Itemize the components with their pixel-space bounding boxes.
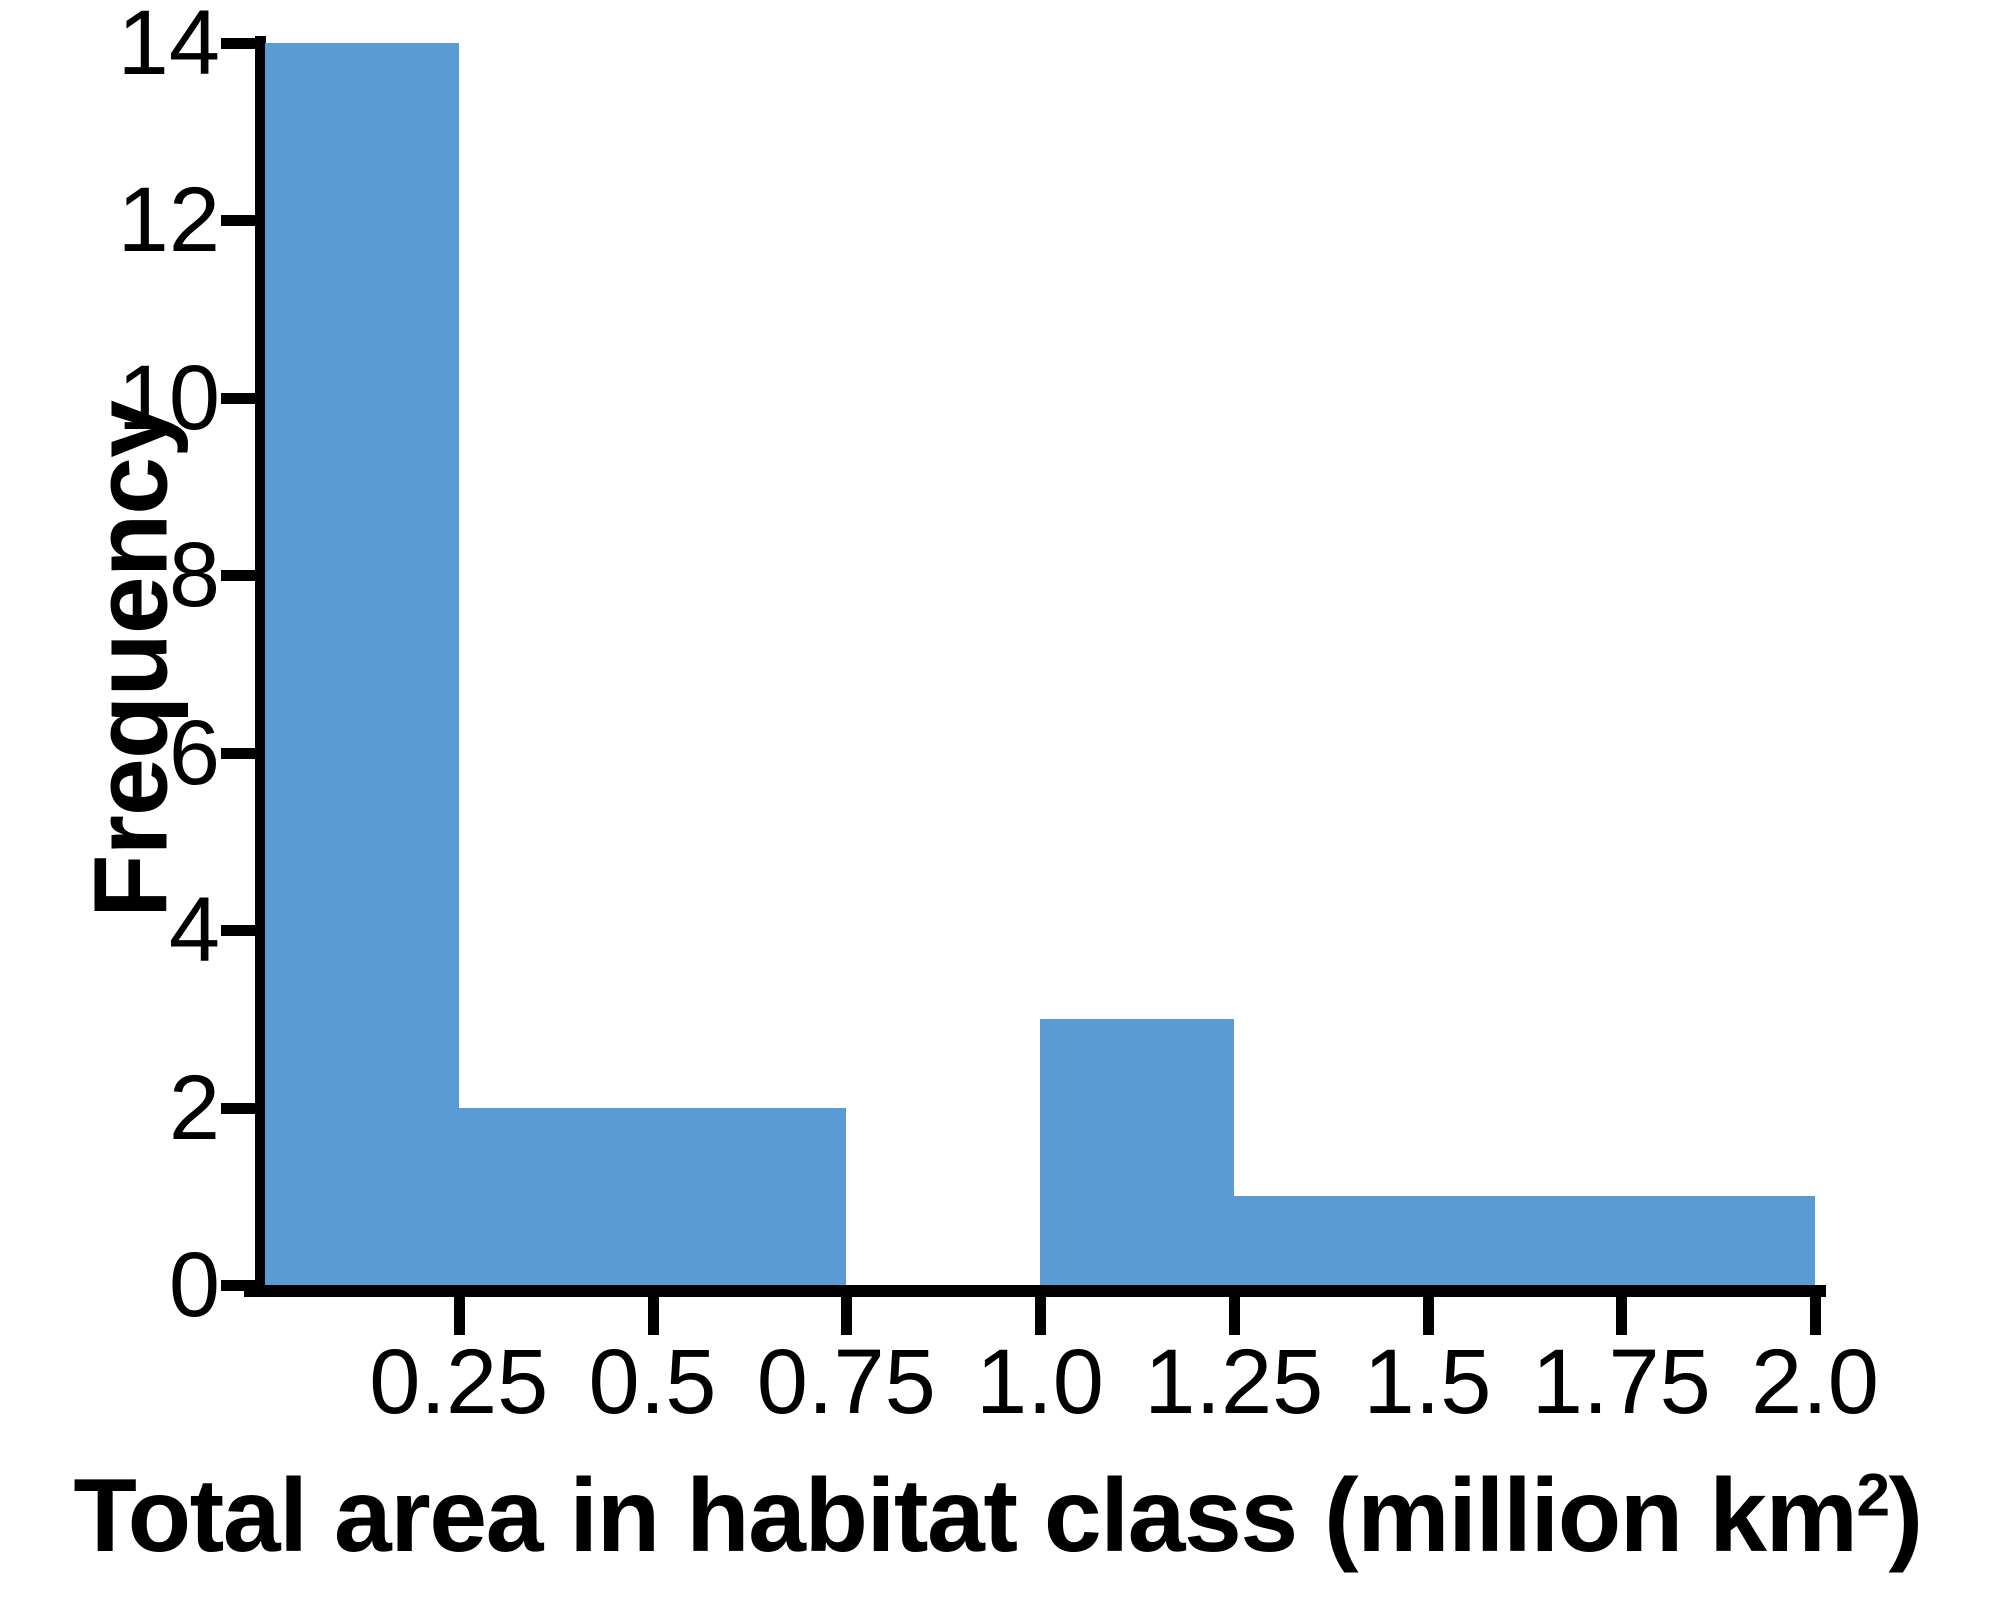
x-axis-title-tail: ) xyxy=(1889,1458,1922,1574)
x-axis-title-main: Total area in habitat class (million km xyxy=(73,1458,1856,1574)
x-axis-tick-label: 2.0 xyxy=(1685,1332,1945,1432)
x-axis-tick xyxy=(1035,1297,1046,1335)
x-axis-tick xyxy=(454,1297,465,1335)
y-axis-tick-label: 6 xyxy=(70,707,220,799)
y-axis-tick xyxy=(221,570,255,581)
histogram-bar xyxy=(1234,1196,1815,1285)
x-axis-title-superscript: 2 xyxy=(1857,1460,1889,1528)
y-axis-tick-label: 14 xyxy=(70,0,220,89)
histogram-bar xyxy=(1040,1019,1234,1285)
y-axis-tick xyxy=(221,748,255,759)
y-axis-tick-label: 0 xyxy=(70,1239,220,1331)
x-axis-tick xyxy=(1616,1297,1627,1335)
plot-area xyxy=(265,43,1815,1285)
x-axis-line xyxy=(244,1285,1826,1297)
y-axis-tick-label-group: 02468101214 xyxy=(70,0,220,1610)
histogram-bar xyxy=(265,43,459,1285)
x-axis-title: Total area in habitat class (million km2… xyxy=(0,1456,1995,1576)
y-axis-tick-label: 4 xyxy=(70,884,220,976)
y-axis-tick-label: 2 xyxy=(70,1062,220,1154)
histogram-figure: Frequency 02468101214 0.250.50.751.01.25… xyxy=(0,0,1995,1610)
y-axis-tick xyxy=(221,925,255,936)
x-axis-tick xyxy=(841,1297,852,1335)
bar-group xyxy=(265,43,1815,1285)
x-axis-tick xyxy=(1810,1297,1821,1335)
x-axis-tick xyxy=(1229,1297,1240,1335)
x-axis-tick xyxy=(648,1297,659,1335)
x-axis-tick xyxy=(1423,1297,1434,1335)
y-axis-tick xyxy=(221,393,255,404)
histogram-bar xyxy=(459,1108,847,1285)
y-axis-tick-label: 12 xyxy=(70,174,220,266)
y-axis-tick xyxy=(221,38,255,49)
y-axis-tick xyxy=(221,215,255,226)
y-axis-tick-label: 10 xyxy=(70,352,220,444)
y-axis-tick-label: 8 xyxy=(70,529,220,621)
y-axis-tick xyxy=(221,1103,255,1114)
